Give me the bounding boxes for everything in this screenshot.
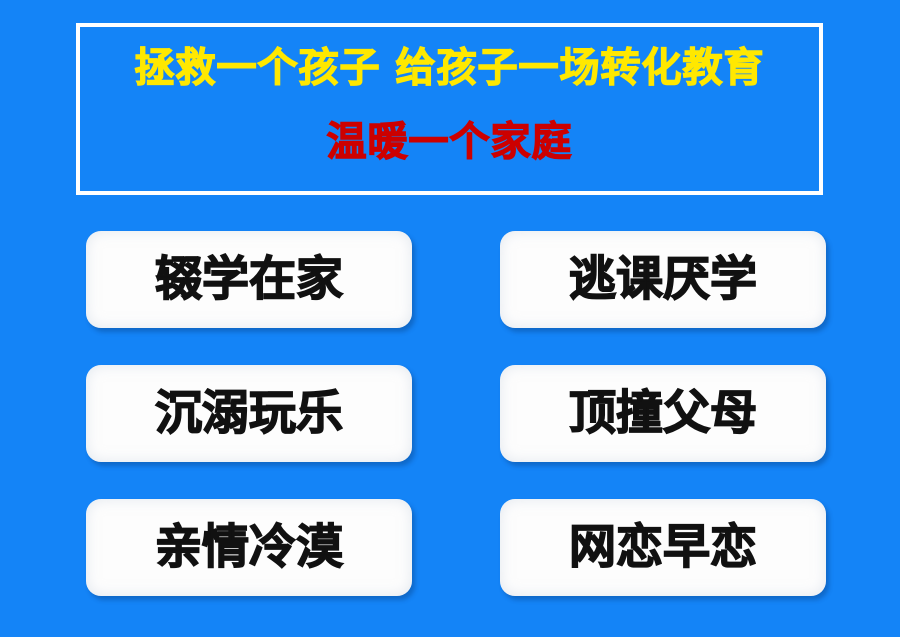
issue-card-truancy[interactable]: 逃课厌学 (500, 231, 826, 328)
issue-card-label: 逃课厌学 (569, 256, 757, 303)
issue-card-grid: 辍学在家 逃课厌学 沉溺玩乐 顶撞父母 亲情冷漠 网恋早恋 (86, 231, 826, 595)
issue-card-label: 辍学在家 (155, 256, 343, 303)
issue-card-family-indifference[interactable]: 亲情冷漠 (86, 499, 412, 596)
issue-card-label: 网恋早恋 (569, 524, 757, 571)
issue-card-indulgence[interactable]: 沉溺玩乐 (86, 365, 412, 462)
headline-primary: 拯救一个孩子 给孩子一场转化教育 (135, 41, 765, 89)
poster-canvas: 拯救一个孩子 给孩子一场转化教育 温暖一个家庭 辍学在家 逃课厌学 沉溺玩乐 顶… (0, 0, 900, 637)
issue-card-label: 沉溺玩乐 (155, 390, 343, 437)
headline-secondary: 温暖一个家庭 (327, 89, 573, 163)
issue-card-label: 顶撞父母 (569, 390, 757, 437)
issue-card-label: 亲情冷漠 (155, 524, 343, 571)
issue-card-online-early-romance[interactable]: 网恋早恋 (500, 499, 826, 596)
header-banner: 拯救一个孩子 给孩子一场转化教育 温暖一个家庭 (76, 23, 823, 195)
issue-card-dropout[interactable]: 辍学在家 (86, 231, 412, 328)
issue-card-defying-parents[interactable]: 顶撞父母 (500, 365, 826, 462)
